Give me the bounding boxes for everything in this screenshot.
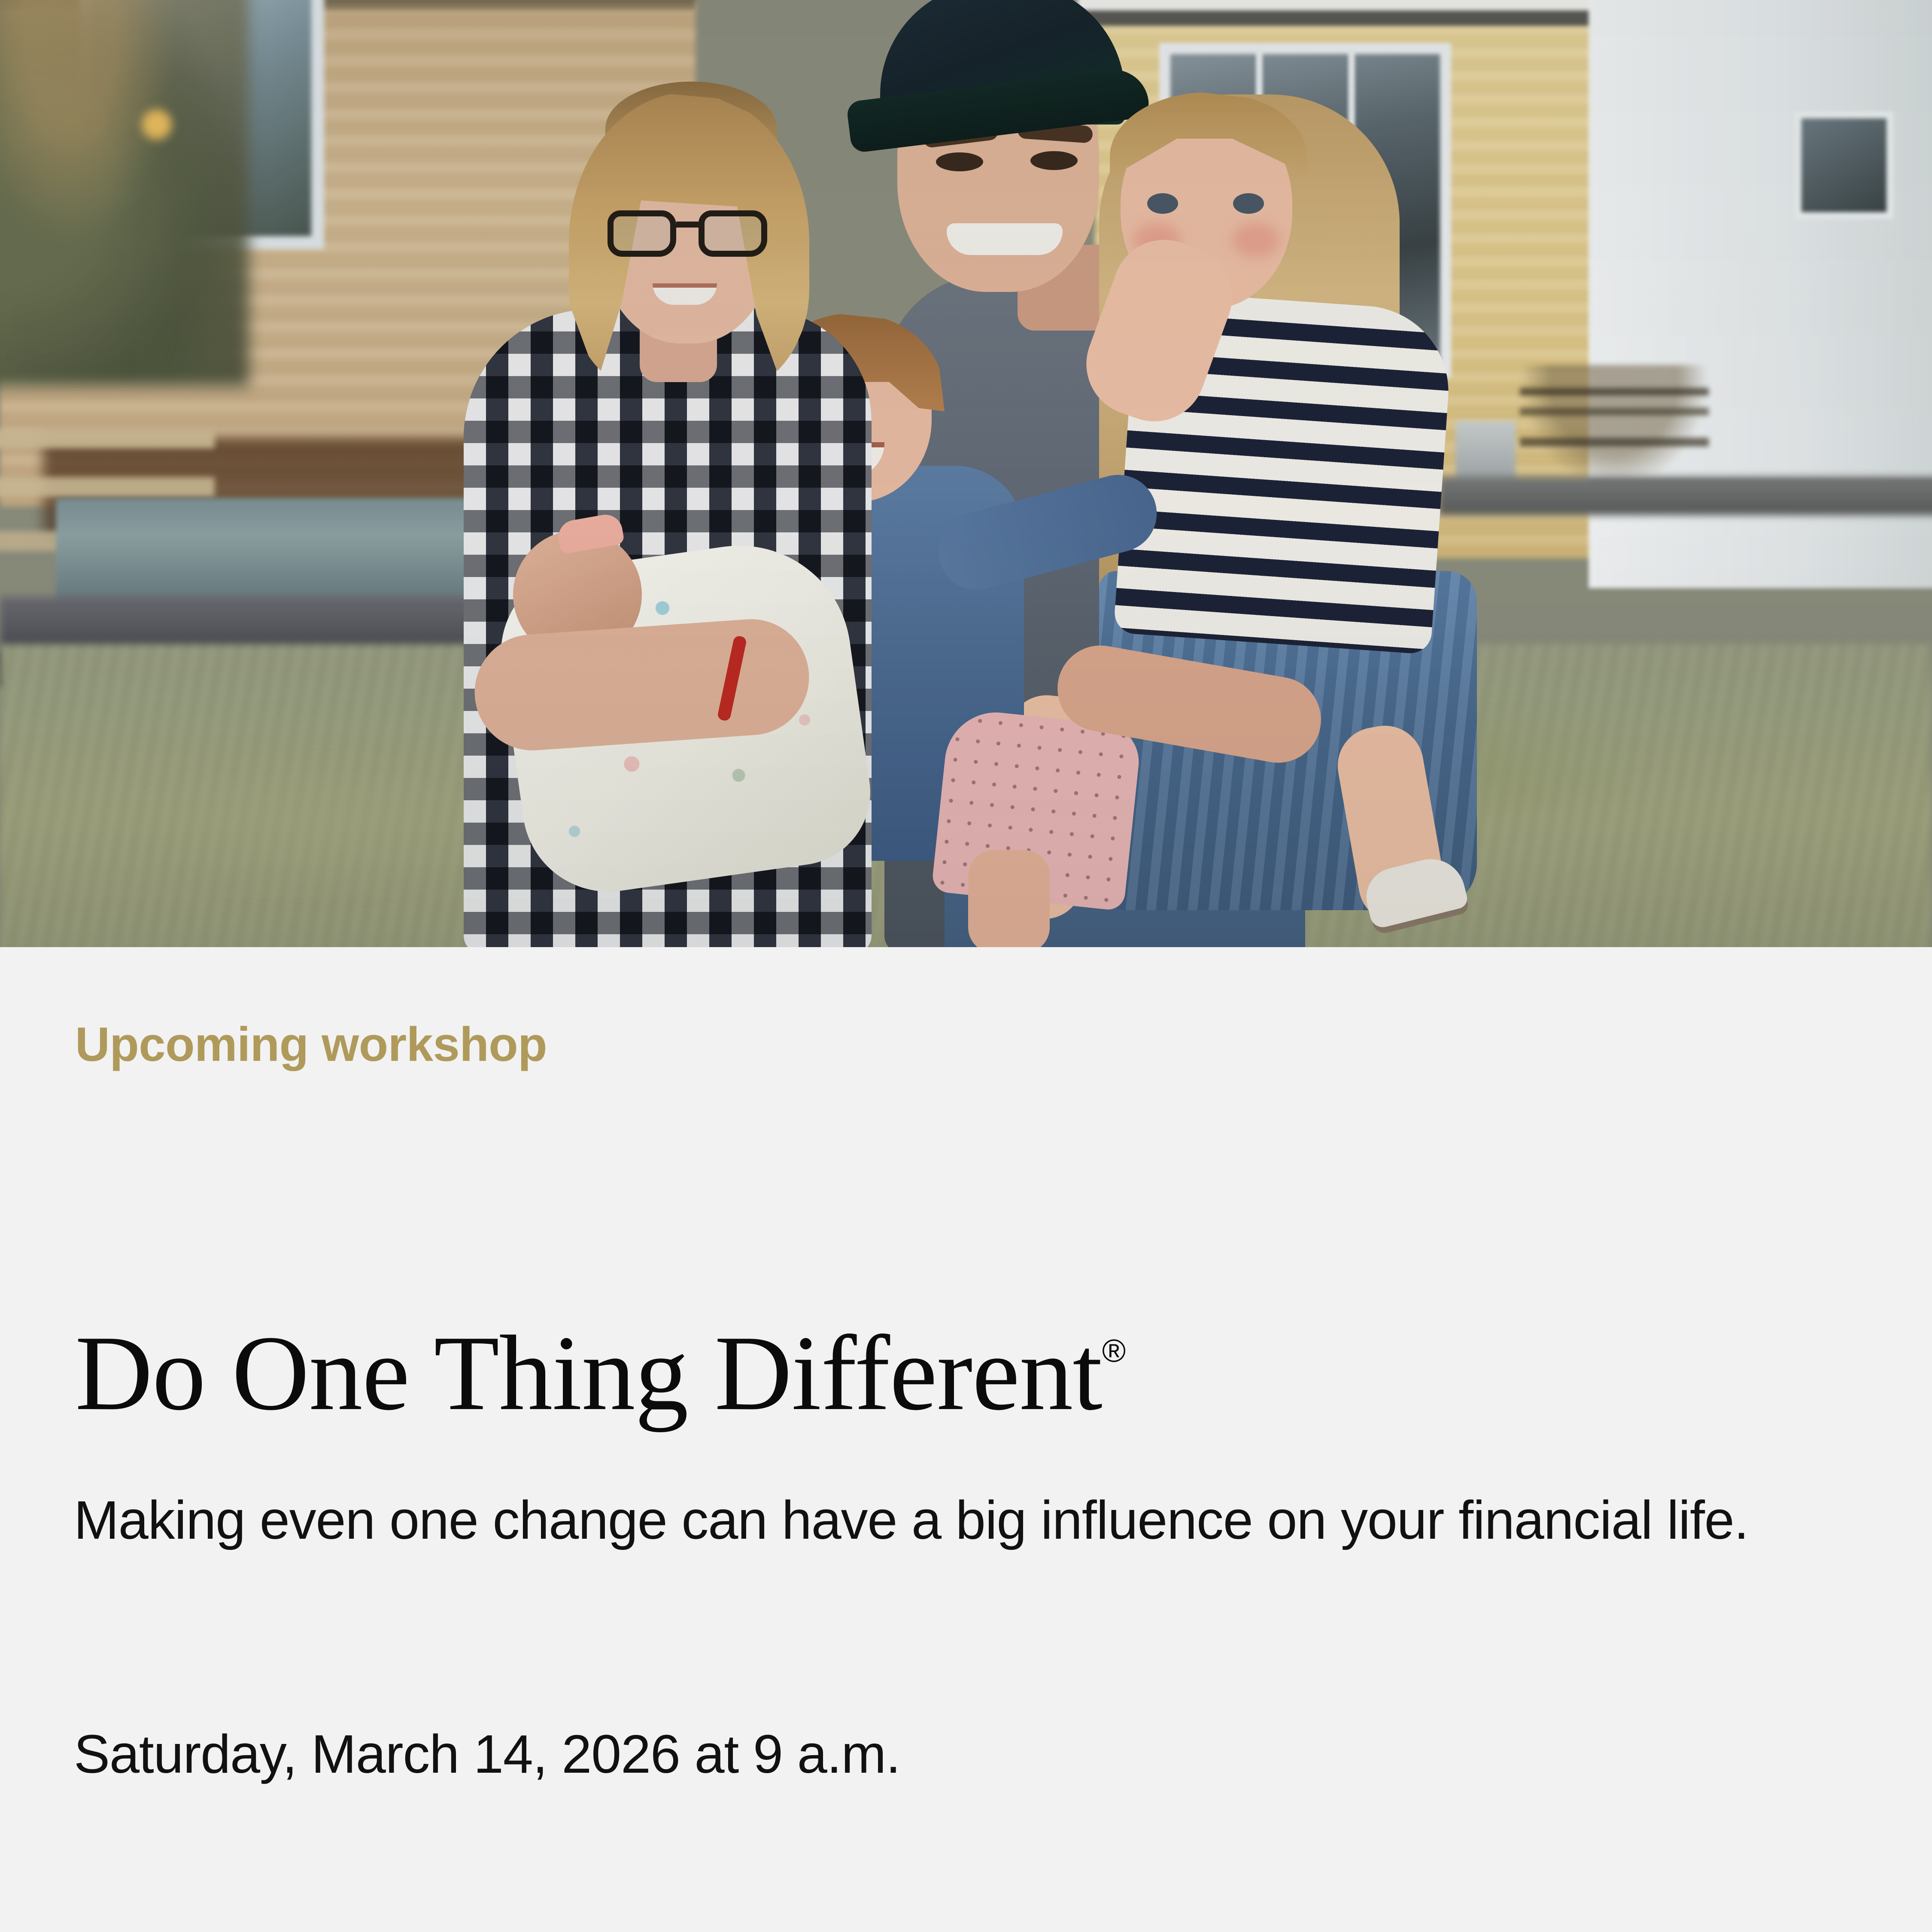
registered-trademark-icon: ® [1102,1333,1126,1369]
event-datetime: Saturday, March 14, 2026 at 9 a.m. [74,1720,900,1788]
hero-family-photo [0,0,1932,947]
promo-text-panel: Upcoming workshop Do One Thing Different… [0,947,1932,1932]
photo-color-grade [0,0,1932,947]
page-title-text: Do One Thing Different [75,1314,1102,1433]
page-title: Do One Thing Different® [75,1320,1126,1427]
photo-scene [0,0,1932,947]
workshop-promo-card: Upcoming workshop Do One Thing Different… [0,0,1932,1932]
eyebrow-label: Upcoming workshop [75,1018,547,1071]
promo-description: Making even one change can have a big in… [74,1486,1864,1554]
